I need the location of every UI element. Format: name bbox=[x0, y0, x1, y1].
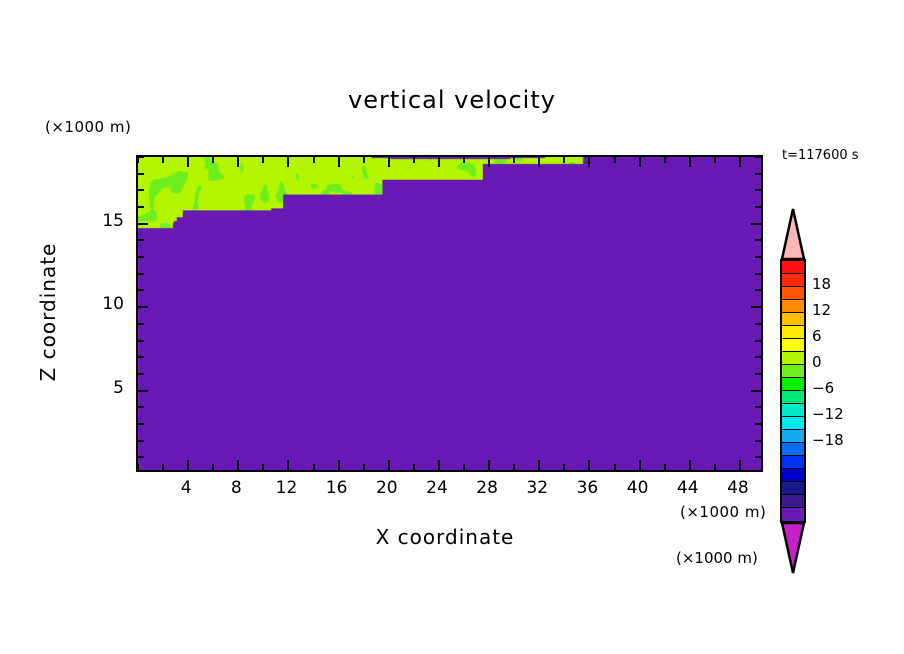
colorbar-band bbox=[782, 404, 804, 417]
x-tick-top bbox=[338, 157, 340, 167]
y-tick bbox=[138, 306, 148, 308]
x-tick bbox=[137, 464, 139, 470]
x-tick-top bbox=[639, 157, 641, 167]
vertical-velocity-field bbox=[138, 157, 761, 470]
colorbar-band bbox=[782, 482, 804, 495]
x-tick-top bbox=[313, 157, 315, 163]
x-tick-label: 48 bbox=[718, 478, 758, 498]
y-tick-right bbox=[755, 289, 761, 291]
x-tick bbox=[538, 460, 540, 470]
y-tick-right bbox=[755, 440, 761, 442]
x-tick-label: 40 bbox=[618, 478, 658, 498]
colorbar-bands bbox=[780, 259, 806, 523]
colorbar-band bbox=[782, 430, 804, 443]
x-tick bbox=[212, 464, 214, 470]
x-tick bbox=[313, 464, 315, 470]
colorbar-tick-label: 12 bbox=[812, 301, 831, 319]
x-tick-label: 12 bbox=[266, 478, 306, 498]
x-tick-top bbox=[488, 157, 490, 167]
y-tick bbox=[138, 273, 144, 275]
x-tick-top bbox=[664, 157, 666, 163]
y-tick bbox=[138, 206, 144, 208]
x-tick bbox=[237, 460, 239, 470]
y-tick-right bbox=[755, 173, 761, 175]
y-tick-right bbox=[751, 306, 761, 308]
y-tick-right bbox=[755, 206, 761, 208]
x-tick-top bbox=[538, 157, 540, 167]
colorbar-band bbox=[782, 365, 804, 378]
colorbar-band bbox=[782, 391, 804, 404]
y-tick-label: 5 bbox=[84, 378, 124, 398]
y-tick-right bbox=[755, 156, 761, 158]
colorbar-band bbox=[782, 274, 804, 287]
x-axis-label: X coordinate bbox=[245, 525, 645, 549]
colorbar-tick-label: −18 bbox=[812, 431, 844, 449]
x-tick bbox=[689, 460, 691, 470]
x-tick-label: 8 bbox=[216, 478, 256, 498]
y-tick-label: 15 bbox=[84, 211, 124, 231]
colorbar-tick-label: 6 bbox=[812, 327, 822, 345]
x-tick-top bbox=[714, 157, 716, 163]
x-tick bbox=[187, 460, 189, 470]
x-tick bbox=[639, 460, 641, 470]
colorbar-band bbox=[782, 352, 804, 365]
timestamp-annotation: t=117600 s bbox=[782, 148, 859, 163]
y-tick-right bbox=[755, 273, 761, 275]
x-tick bbox=[739, 460, 741, 470]
x-tick-top bbox=[162, 157, 164, 163]
x-tick-top bbox=[513, 157, 515, 163]
colorbar-band bbox=[782, 443, 804, 456]
x-tick-top bbox=[588, 157, 590, 167]
y-tick bbox=[138, 256, 144, 258]
x-tick bbox=[338, 460, 340, 470]
colorbar-band bbox=[782, 508, 804, 521]
y-tick-right bbox=[751, 390, 761, 392]
colorbar-tick-label: 0 bbox=[812, 353, 822, 371]
colorbar-band bbox=[782, 469, 804, 482]
x-tick-top bbox=[388, 157, 390, 167]
x-axis-unit-label: (×1000 m) bbox=[680, 503, 766, 521]
y-tick bbox=[138, 406, 144, 408]
y-tick bbox=[138, 423, 144, 425]
x-tick-top bbox=[739, 157, 741, 167]
x-tick-top bbox=[563, 157, 565, 163]
x-tick-top bbox=[212, 157, 214, 163]
x-tick bbox=[488, 460, 490, 470]
x-tick bbox=[287, 460, 289, 470]
x-tick-top bbox=[689, 157, 691, 167]
colorbar: 181260−6−12−18(×1000 m) bbox=[780, 207, 806, 575]
y-tick-right bbox=[755, 406, 761, 408]
colorbar-tick-label: −6 bbox=[812, 379, 834, 397]
y-tick-label: 10 bbox=[84, 294, 124, 314]
y-tick bbox=[138, 456, 144, 458]
x-tick-top bbox=[137, 157, 139, 163]
x-tick bbox=[463, 464, 465, 470]
x-tick bbox=[614, 464, 616, 470]
colorbar-band bbox=[782, 417, 804, 430]
y-tick-right bbox=[755, 340, 761, 342]
x-tick-label: 44 bbox=[668, 478, 708, 498]
x-tick-top bbox=[438, 157, 440, 167]
x-tick-top bbox=[413, 157, 415, 163]
x-tick bbox=[513, 464, 515, 470]
x-tick-top bbox=[363, 157, 365, 163]
colorbar-cap-top bbox=[780, 207, 806, 259]
colorbar-band bbox=[782, 495, 804, 508]
y-tick bbox=[138, 289, 144, 291]
colorbar-band bbox=[782, 378, 804, 391]
colorbar-band bbox=[782, 287, 804, 300]
x-tick-top bbox=[463, 157, 465, 163]
colorbar-band bbox=[782, 261, 804, 274]
y-tick-right bbox=[755, 456, 761, 458]
y-tick bbox=[138, 356, 144, 358]
colorbar-cap-bottom bbox=[780, 523, 806, 575]
x-tick-top bbox=[262, 157, 264, 163]
y-tick-right bbox=[751, 223, 761, 225]
y-tick-right bbox=[755, 239, 761, 241]
x-tick-label: 20 bbox=[367, 478, 407, 498]
x-tick-label: 32 bbox=[517, 478, 557, 498]
y-tick bbox=[138, 173, 144, 175]
colorbar-tick-label: −12 bbox=[812, 405, 844, 423]
y-tick bbox=[138, 323, 144, 325]
x-tick bbox=[714, 464, 716, 470]
colorbar-band bbox=[782, 326, 804, 339]
colorbar-band bbox=[782, 300, 804, 313]
colorbar-band bbox=[782, 456, 804, 469]
x-tick-top bbox=[287, 157, 289, 167]
y-tick-right bbox=[755, 323, 761, 325]
x-tick-top bbox=[614, 157, 616, 163]
x-tick bbox=[413, 464, 415, 470]
x-tick bbox=[664, 464, 666, 470]
contour-plot-area bbox=[136, 155, 763, 472]
y-tick-right bbox=[755, 373, 761, 375]
y-tick-right bbox=[755, 356, 761, 358]
x-tick-label: 16 bbox=[317, 478, 357, 498]
x-tick-top bbox=[187, 157, 189, 167]
y-tick bbox=[138, 239, 144, 241]
x-tick-label: 24 bbox=[417, 478, 457, 498]
colorbar-unit-label: (×1000 m) bbox=[676, 549, 758, 567]
chart-title: vertical velocity bbox=[0, 86, 904, 114]
x-tick bbox=[563, 464, 565, 470]
y-axis-unit-label: (×1000 m) bbox=[45, 118, 131, 136]
colorbar-band bbox=[782, 313, 804, 326]
y-axis-label: Z coordinate bbox=[36, 212, 60, 412]
y-tick bbox=[138, 440, 144, 442]
x-tick-top bbox=[237, 157, 239, 167]
y-tick bbox=[138, 189, 144, 191]
y-tick bbox=[138, 373, 144, 375]
x-tick bbox=[588, 460, 590, 470]
colorbar-band bbox=[782, 339, 804, 352]
x-tick bbox=[363, 464, 365, 470]
y-tick bbox=[138, 340, 144, 342]
x-tick bbox=[162, 464, 164, 470]
x-tick bbox=[388, 460, 390, 470]
x-tick-label: 28 bbox=[467, 478, 507, 498]
x-tick-label: 4 bbox=[166, 478, 206, 498]
x-tick bbox=[438, 460, 440, 470]
y-tick-right bbox=[755, 256, 761, 258]
x-tick bbox=[262, 464, 264, 470]
y-tick bbox=[138, 390, 148, 392]
y-tick-right bbox=[755, 423, 761, 425]
colorbar-tick-label: 18 bbox=[812, 275, 831, 293]
x-tick-label: 36 bbox=[567, 478, 607, 498]
y-tick bbox=[138, 223, 148, 225]
y-tick-right bbox=[755, 189, 761, 191]
